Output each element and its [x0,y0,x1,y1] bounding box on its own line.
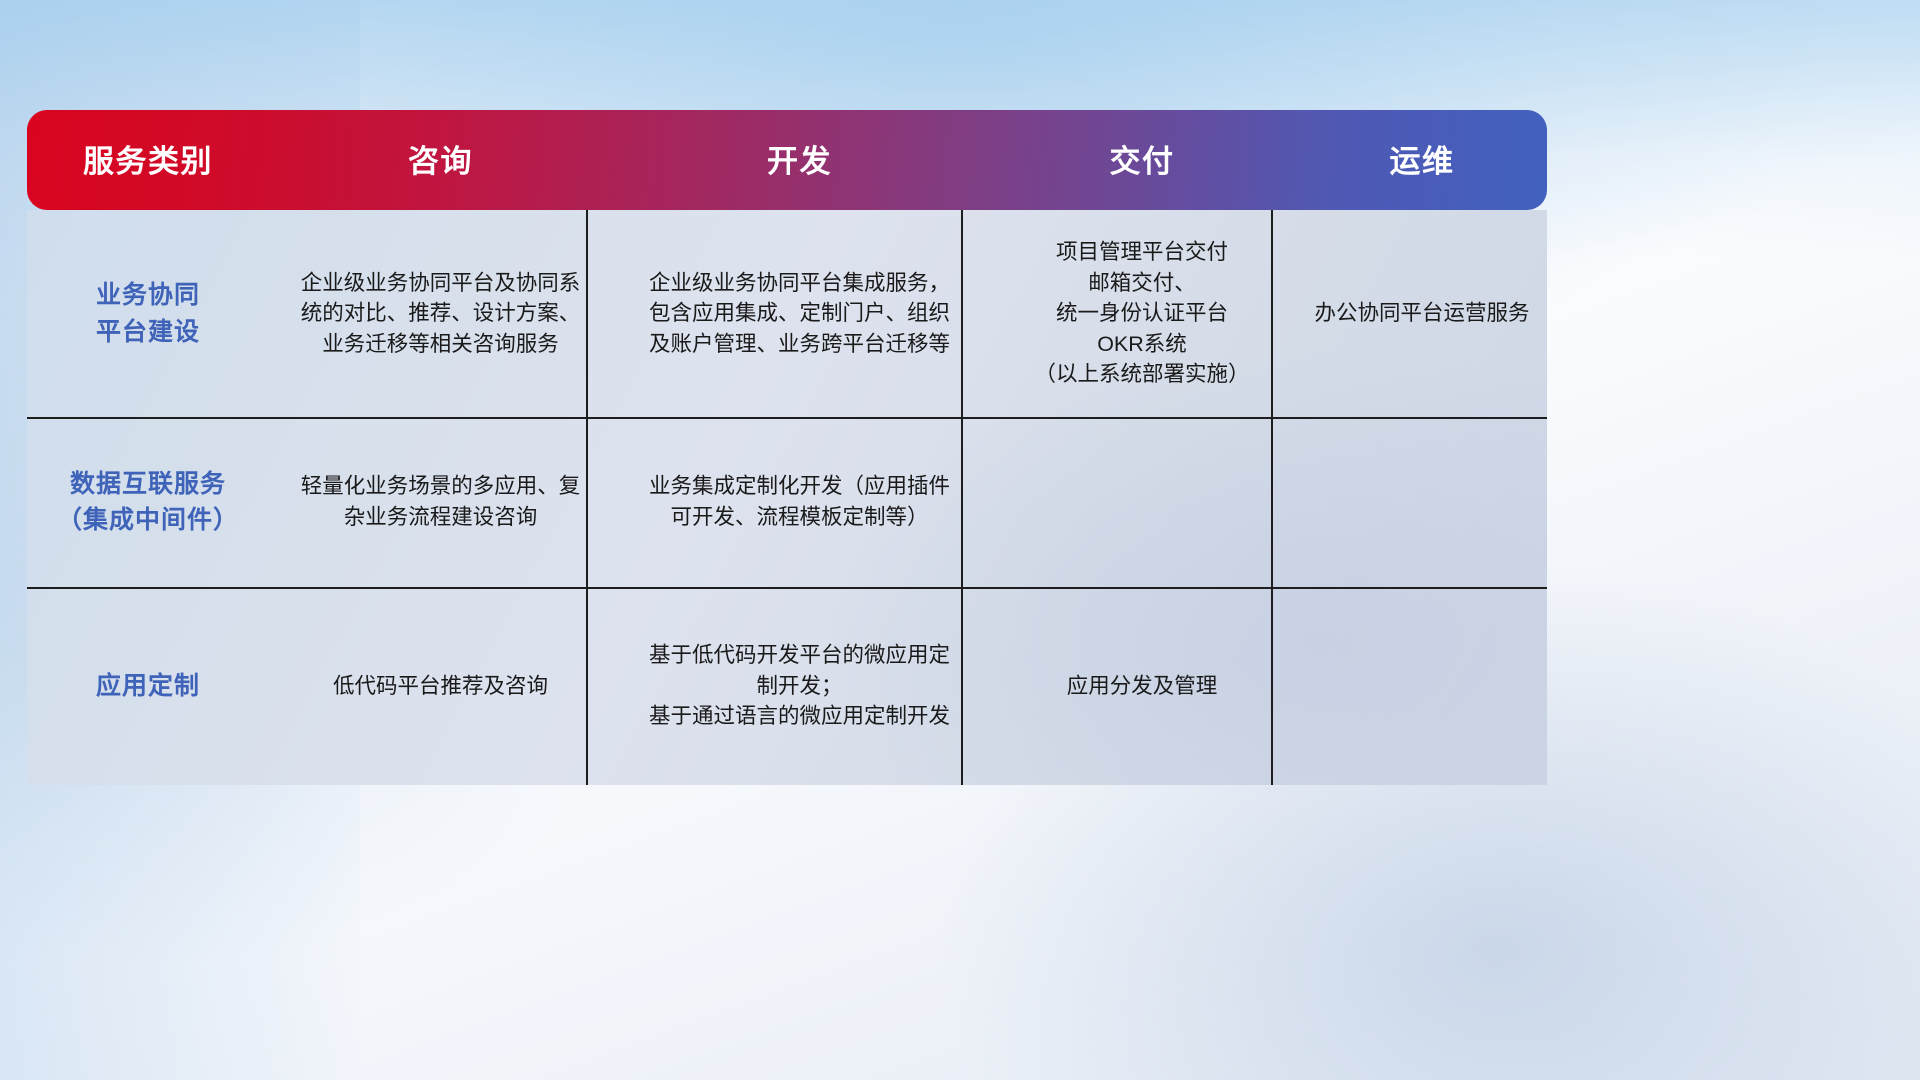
column-header-delivery: 交付 [987,110,1297,210]
row-divider [27,417,1547,419]
cell-consulting: 低代码平台推荐及咨询 [269,587,612,785]
cell-delivery: 应用分发及管理 [987,587,1297,785]
table-row: 数据互联服务 （集成中间件） 轻量化业务场景的多应用、复 杂业务流程建设咨询 业… [27,417,1547,587]
column-divider [1271,210,1273,785]
row-divider [27,587,1547,589]
cell-operations [1297,587,1547,785]
table-row: 应用定制 低代码平台推荐及咨询 基于低代码开发平台的微应用定 制开发； 基于通过… [27,587,1547,785]
cell-delivery [987,417,1297,587]
column-header-consulting: 咨询 [269,110,612,210]
column-header-service-category: 服务类别 [27,110,269,210]
cell-development: 基于低代码开发平台的微应用定 制开发； 基于通过语言的微应用定制开发 [612,587,987,785]
cell-development: 企业级业务协同平台集成服务， 包含应用集成、定制门户、组织 及账户管理、业务跨平… [612,210,987,417]
table-header-row: 服务类别 咨询 开发 交付 运维 [27,110,1547,210]
column-header-operations: 运维 [1297,110,1547,210]
cell-operations: 办公协同平台运营服务 [1297,210,1547,417]
row-category-label: 数据互联服务 （集成中间件） [27,417,269,587]
column-header-development: 开发 [612,110,987,210]
cell-consulting: 企业级业务协同平台及协同系 统的对比、推荐、设计方案、 业务迁移等相关咨询服务 [269,210,612,417]
row-category-label: 应用定制 [27,587,269,785]
row-category-label: 业务协同 平台建设 [27,210,269,417]
service-matrix-table: 服务类别 咨询 开发 交付 运维 业务协同 平台建设 企业级业务协同平台及协同系… [27,110,1547,785]
table-body: 业务协同 平台建设 企业级业务协同平台及协同系 统的对比、推荐、设计方案、 业务… [27,210,1547,785]
column-divider [961,210,963,785]
column-divider [586,210,588,785]
cell-delivery: 项目管理平台交付 邮箱交付、 统一身份认证平台 OKR系统 （以上系统部署实施） [987,210,1297,417]
cell-development: 业务集成定制化开发（应用插件 可开发、流程模板定制等） [612,417,987,587]
cell-operations [1297,417,1547,587]
table-row: 业务协同 平台建设 企业级业务协同平台及协同系 统的对比、推荐、设计方案、 业务… [27,210,1547,417]
cell-consulting: 轻量化业务场景的多应用、复 杂业务流程建设咨询 [269,417,612,587]
